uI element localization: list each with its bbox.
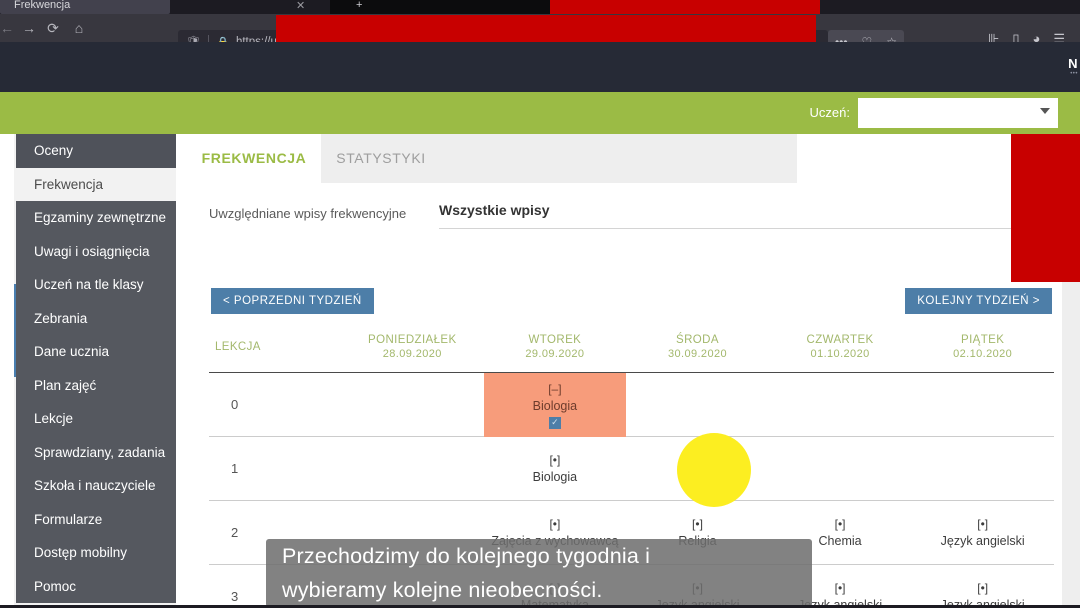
column-header-piatek: PIĄTEK 02.10.2020 <box>911 331 1054 372</box>
column-header-sroda: ŚRODA 30.09.2020 <box>626 331 769 372</box>
table-row: 0[–]Biologia✓ <box>209 373 1054 437</box>
subject-label: Język angielski <box>941 533 1025 550</box>
sidebar-item-label: Dostęp mobilny <box>34 545 127 560</box>
caption-line-2: wybieramy kolejne nieobecności. <box>282 573 796 607</box>
attendance-mark: [•] <box>692 516 703 533</box>
column-header-day: CZWARTEK <box>807 334 874 346</box>
filter-select[interactable]: Wszystkie wpisy <box>439 202 1057 229</box>
attendance-cell-empty <box>341 437 484 500</box>
content-card: FREKWENCJA STATYSTYKI Uwzględniane wpisy… <box>187 134 1062 608</box>
sidebar-item-egzaminy-zewnetrzne[interactable]: Egzaminy zewnętrzne <box>16 201 176 235</box>
subject-label: Biologia <box>533 398 577 415</box>
cell-lesson-number: 0 <box>209 373 341 436</box>
student-select[interactable] <box>858 98 1058 128</box>
subject-label: Biologia <box>533 469 577 486</box>
attendance-cell-empty <box>626 373 769 436</box>
reload-icon[interactable]: ⟳ <box>42 18 64 38</box>
table-header-row: LEKCJA PONIEDZIAŁEK 28.09.2020 WTOREK 29… <box>209 331 1054 373</box>
sidebar-item-dane-ucznia[interactable]: Dane ucznia <box>16 335 176 369</box>
sidebar-item-label: Formularze <box>34 512 102 527</box>
attendance-mark: [•] <box>835 516 846 533</box>
column-header-date: 30.09.2020 <box>626 348 769 362</box>
column-header-date: 28.09.2020 <box>341 348 484 362</box>
sidebar-item-oceny[interactable]: Oceny <box>16 134 176 168</box>
sidebar-item-lekcje[interactable]: Lekcje <box>16 402 176 436</box>
column-header-poniedzialek: PONIEDZIAŁEK 28.09.2020 <box>341 331 484 372</box>
sidebar-item-pomoc[interactable]: Pomoc <box>16 570 176 604</box>
sidebar-item-label: Szkoła i nauczyciele <box>34 478 156 493</box>
sidebar-item-sprawdziany-zadania[interactable]: Sprawdziany, zadania <box>16 436 176 470</box>
sidebar-item-frekwencja[interactable]: Frekwencja <box>16 168 176 202</box>
filter-selected-value: Wszystkie wpisy <box>439 202 550 218</box>
tab-statystyki[interactable]: STATYSTYKI <box>321 134 441 183</box>
browser-navbar: ← → ⟳ ⌂ 🛡 🔒 https://u ••• ♡ ☆ ⊪ ▯ ◕ ☰ <box>0 14 1080 42</box>
browser-tab-label: Frekwencja <box>14 0 70 12</box>
sidebar-item-label: Uczeń na tle klasy <box>34 277 144 292</box>
attendance-mark: [•] <box>549 452 560 469</box>
site-logo: N <box>1068 56 1078 71</box>
attendance-mark: [•] <box>549 516 560 533</box>
sidebar-item-formularze[interactable]: Formularze <box>16 503 176 537</box>
next-week-button[interactable]: KOLEJNY TYDZIEŃ > <box>905 288 1052 314</box>
checkbox-checked-icon[interactable]: ✓ <box>549 417 561 429</box>
redaction-box-tabstrip <box>550 0 820 14</box>
sidebar-item-zebrania[interactable]: Zebrania <box>16 302 176 336</box>
browser-tabstrip: Frekwencja ✕ + <box>0 0 1080 14</box>
attendance-cell-empty <box>769 373 912 436</box>
forward-icon[interactable]: → <box>18 18 40 38</box>
attendance-cell[interactable]: [•]Biologia <box>484 437 627 500</box>
filter-label: Uwzględniane wpisy frekwencyjne <box>209 206 406 221</box>
prev-week-button[interactable]: < POPRZEDNI TYDZIEŃ <box>211 288 374 314</box>
sidebar-item-label: Oceny <box>34 143 73 158</box>
attendance-mark: [•] <box>835 580 846 597</box>
column-header-day: ŚRODA <box>676 334 719 346</box>
content-tabbar: FREKWENCJA STATYSTYKI <box>187 134 1062 183</box>
video-caption: Przechodzimy do kolejnego tygodnia i wyb… <box>266 539 812 607</box>
close-icon[interactable]: ✕ <box>296 0 305 12</box>
attendance-mark: [•] <box>977 580 988 597</box>
column-header-day: PONIEDZIAŁEK <box>368 334 457 346</box>
cell-lesson-number: 1 <box>209 437 341 500</box>
sidebar-item-label: Zebrania <box>34 311 87 326</box>
redaction-box-header <box>1011 134 1080 282</box>
attendance-cell-empty <box>911 373 1054 436</box>
new-tab-icon[interactable]: + <box>356 0 362 11</box>
sidebar-item-uwagi-i-osiagniecia[interactable]: Uwagi i osiągnięcia <box>16 235 176 269</box>
browser-newtab-area <box>330 0 550 14</box>
table-row: 1[•]Biologia <box>209 437 1054 501</box>
column-header-date: 01.10.2020 <box>769 348 912 362</box>
sidebar-item-szkola-i-nauczyciele[interactable]: Szkoła i nauczyciele <box>16 469 176 503</box>
student-label: Uczeń: <box>810 105 850 120</box>
sidebar-item-label: Plan zajęć <box>34 378 96 393</box>
sidebar-item-plan-zajec[interactable]: Plan zajęć <box>16 369 176 403</box>
subject-label: Chemia <box>819 533 862 550</box>
column-header-wtorek: WTOREK 29.09.2020 <box>484 331 627 372</box>
site-header: N ••• <box>0 42 1080 92</box>
attendance-cell-empty <box>341 373 484 436</box>
attendance-cell-empty <box>769 437 912 500</box>
sidebar-item-label: Pomoc <box>34 579 76 594</box>
chevron-down-icon[interactable] <box>1040 108 1050 114</box>
sidebar-item-uczen-na-tle-klasy[interactable]: Uczeń na tle klasy <box>16 268 176 302</box>
home-icon[interactable]: ⌂ <box>68 18 90 38</box>
column-header-date: 02.10.2020 <box>911 348 1054 362</box>
attendance-cell-empty <box>626 437 769 500</box>
screen: Frekwencja ✕ + ← → ⟳ ⌂ 🛡 🔒 https://u •••… <box>0 0 1080 608</box>
attendance-cell[interactable]: [–]Biologia✓ <box>484 373 627 437</box>
back-icon[interactable]: ← <box>0 18 18 38</box>
sidebar-item-dostep-mobilny[interactable]: Dostęp mobilny <box>16 536 176 570</box>
web-page: N ••• Uczeń: Oceny Frekwencja Egzaminy z… <box>0 42 1080 608</box>
column-header-day: PIĄTEK <box>961 334 1004 346</box>
attendance-cell[interactable]: [•]Język angielski <box>911 565 1054 608</box>
student-bar: Uczeń: <box>0 92 1080 134</box>
sidebar-menu: Oceny Frekwencja Egzaminy zewnętrzne Uwa… <box>16 134 176 603</box>
sidebar-item-label: Sprawdziany, zadania <box>34 445 165 460</box>
sidebar-item-label: Egzaminy zewnętrzne <box>34 210 166 225</box>
site-logo-subtitle: ••• <box>1070 71 1078 77</box>
tab-frekwencja[interactable]: FREKWENCJA <box>187 134 321 183</box>
sidebar-item-label: Frekwencja <box>34 177 103 192</box>
sidebar-item-label: Lekcje <box>34 411 73 426</box>
caption-line-1: Przechodzimy do kolejnego tygodnia i <box>282 539 796 573</box>
sidebar-item-label: Uwagi i osiągnięcia <box>34 244 150 259</box>
sidebar-item-label: Dane ucznia <box>34 344 109 359</box>
column-header-date: 29.09.2020 <box>484 348 627 362</box>
column-header-czwartek: CZWARTEK 01.10.2020 <box>769 331 912 372</box>
column-header-day: WTOREK <box>529 334 582 346</box>
attendance-mark: [–] <box>548 381 561 398</box>
column-header-lekcja: LEKCJA <box>209 331 341 372</box>
attendance-cell-empty <box>911 437 1054 500</box>
attendance-cell[interactable]: [•]Język angielski <box>911 501 1054 564</box>
attendance-mark: [•] <box>977 516 988 533</box>
